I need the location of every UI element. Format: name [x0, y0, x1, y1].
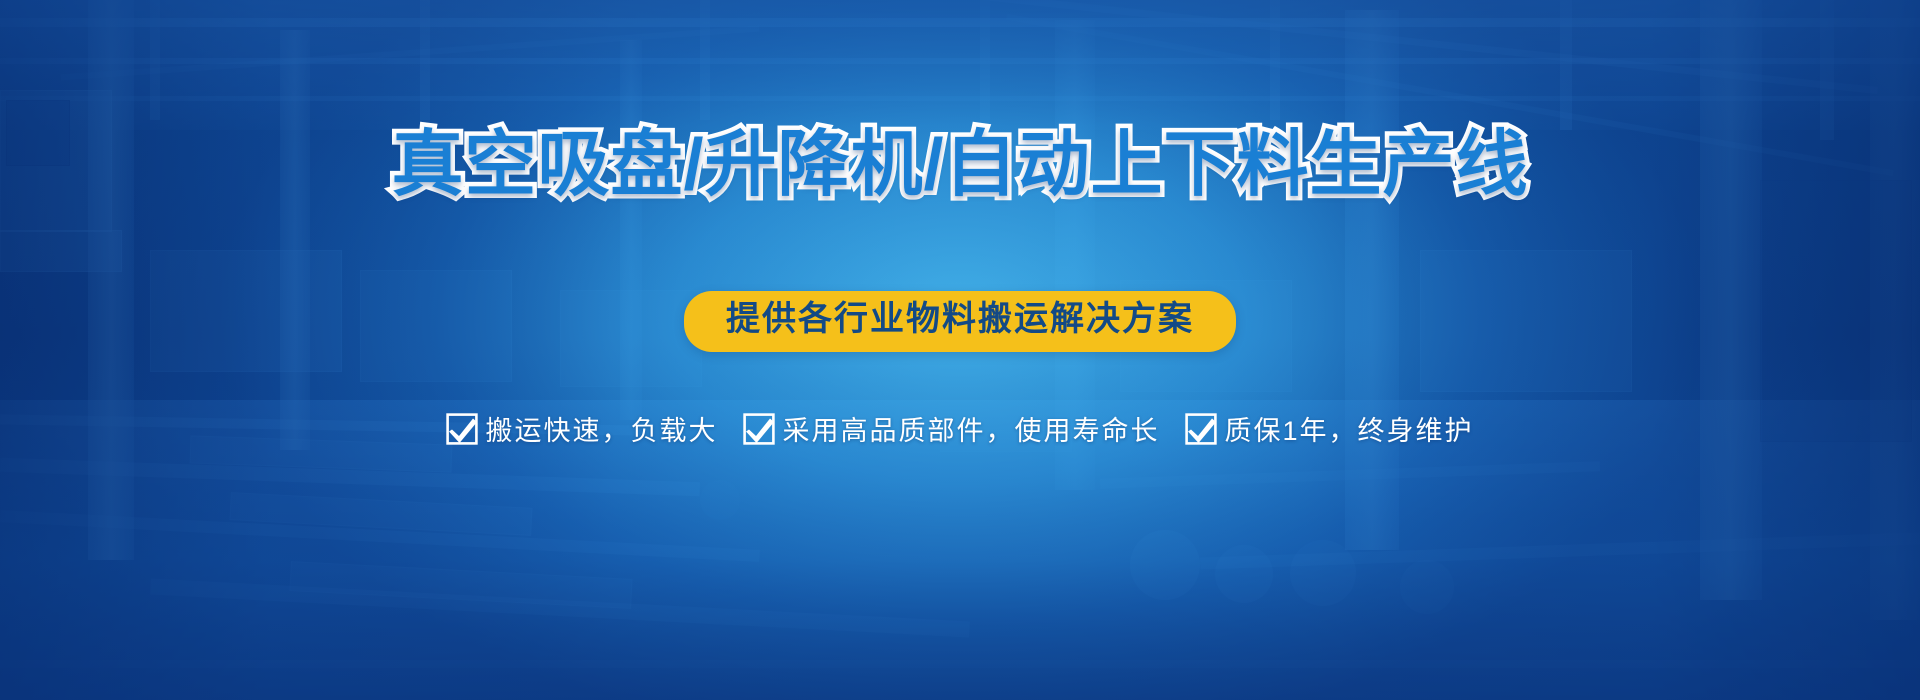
- feature-item: 采用高品质部件，使用寿命长: [743, 409, 1159, 448]
- hero-banner: 真空吸盘/升降机/自动上下料生产线 提供各行业物料搬运解决方案 搬运快速，负载大: [0, 0, 1920, 700]
- subtitle-pill: 提供各行业物料搬运解决方案: [684, 291, 1236, 352]
- banner-title: 真空吸盘/升降机/自动上下料生产线: [0, 128, 1920, 204]
- subtitle-pill-label: 提供各行业物料搬运解决方案: [726, 300, 1194, 339]
- feature-label: 采用高品质部件，使用寿命长: [782, 409, 1159, 448]
- checkmark-icon: [446, 413, 478, 445]
- banner-content: 真空吸盘/升降机/自动上下料生产线 提供各行业物料搬运解决方案 搬运快速，负载大: [0, 0, 1920, 700]
- checkmark-icon: [1185, 413, 1217, 445]
- feature-list: 搬运快速，负载大 采用高品质部件，使用寿命长: [0, 409, 1920, 448]
- checkmark-icon: [743, 413, 775, 445]
- feature-label: 质保1年，终身维护: [1224, 409, 1473, 448]
- feature-item: 搬运快速，负载大: [446, 409, 717, 448]
- feature-label: 搬运快速，负载大: [485, 409, 717, 448]
- feature-item: 质保1年，终身维护: [1185, 409, 1473, 448]
